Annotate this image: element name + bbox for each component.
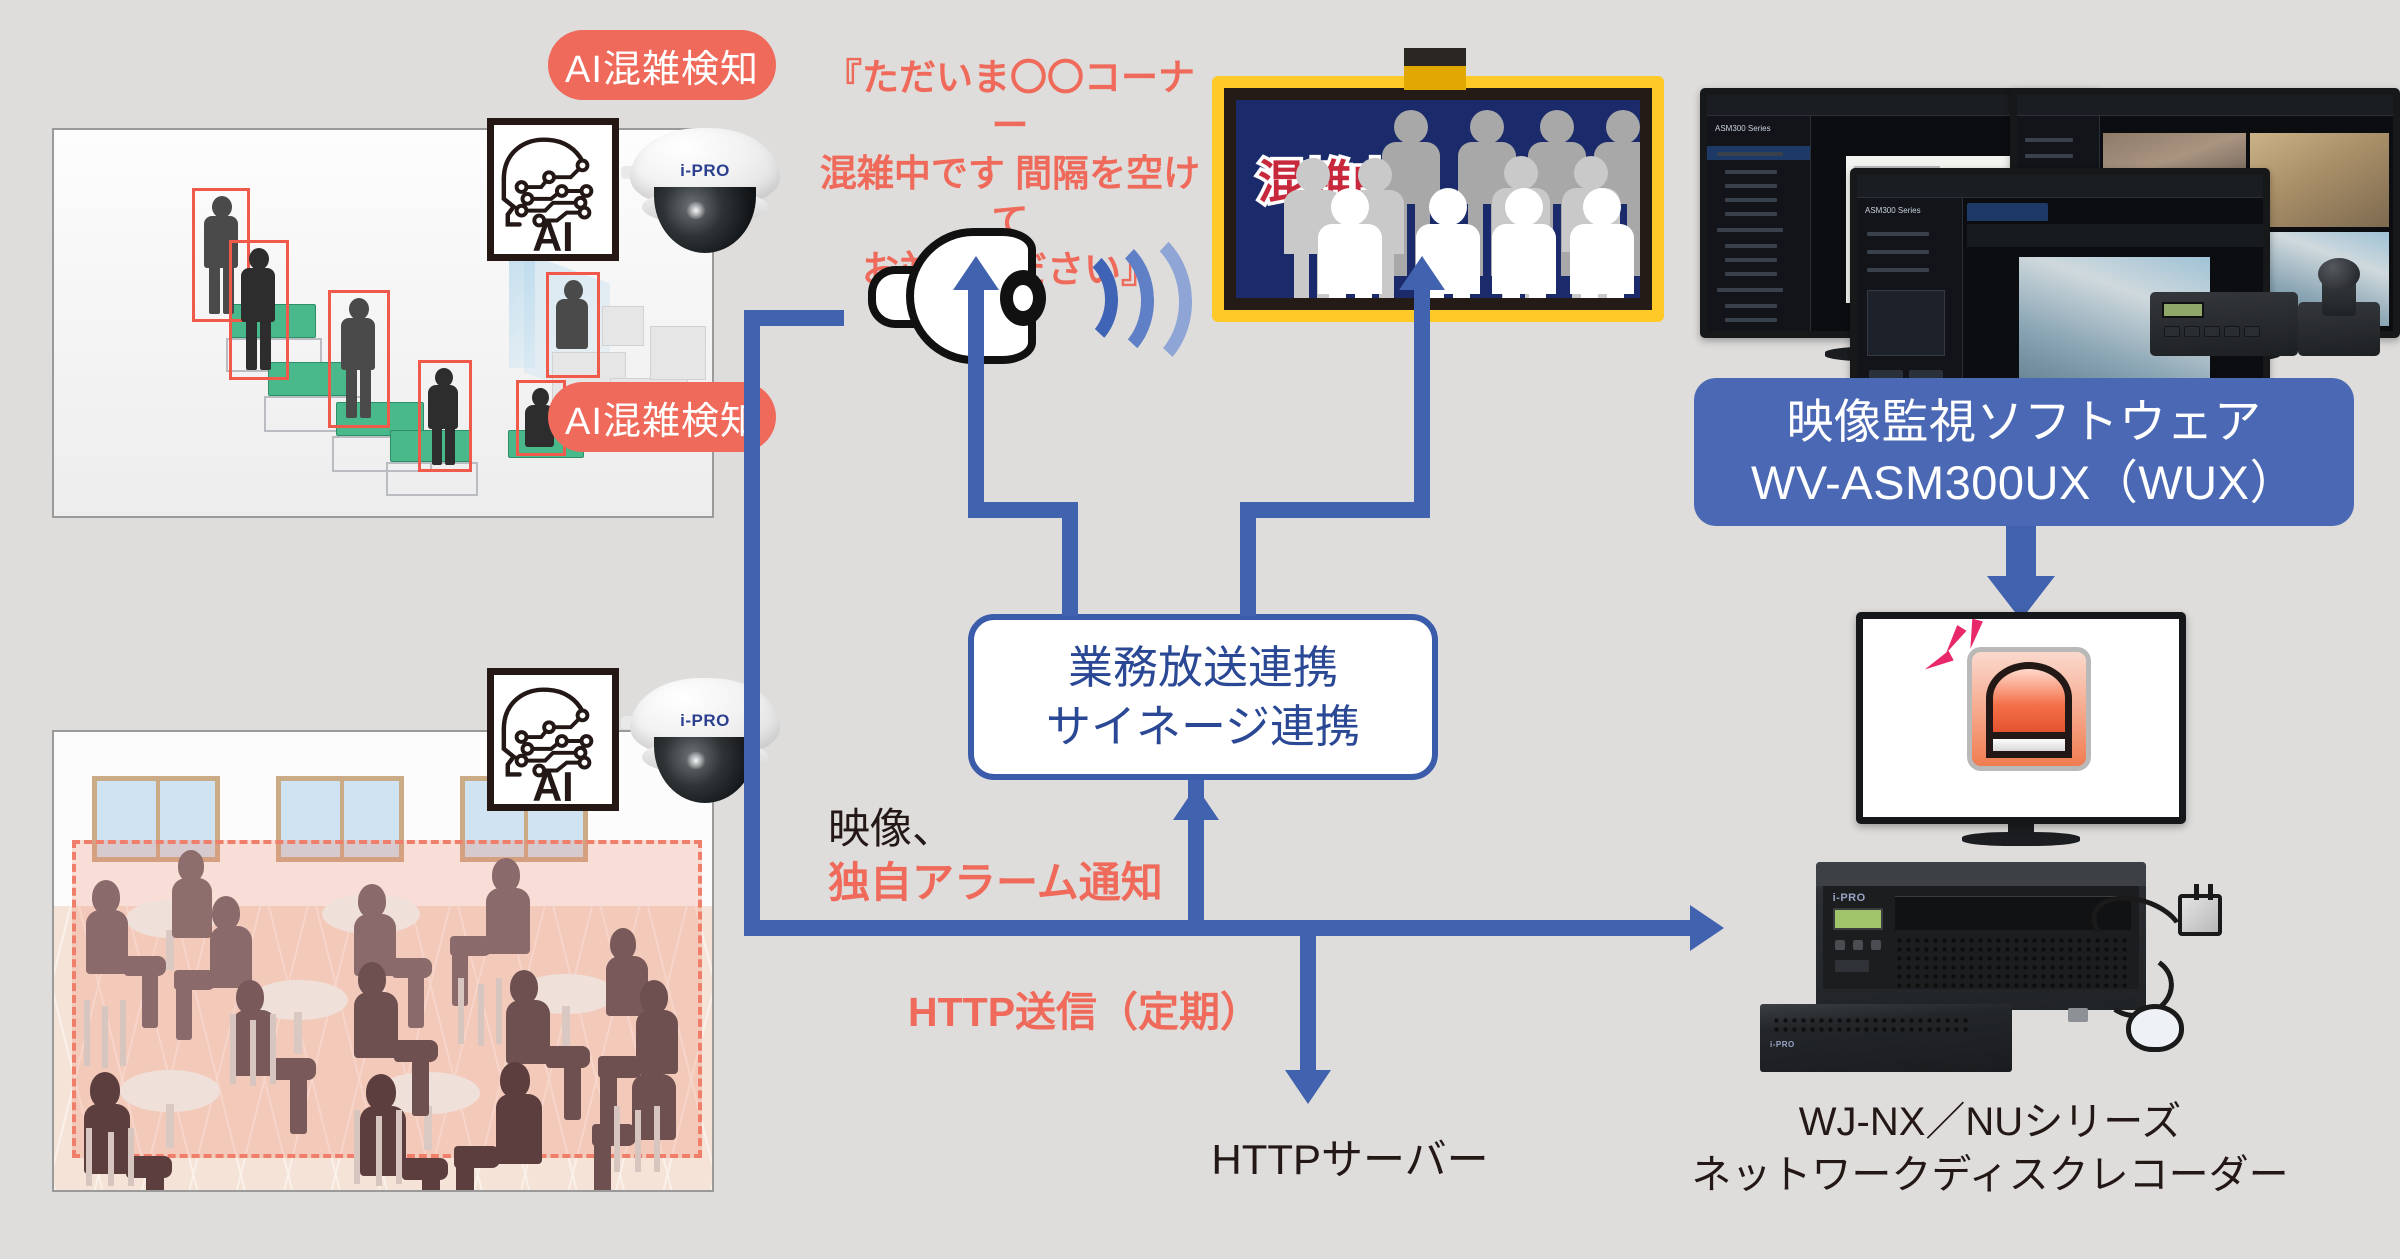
- connector-horiz-right: [1240, 502, 1430, 518]
- mouse[interactable]: [2126, 1004, 2184, 1052]
- flow-label-http-send: HTTP送信（定期）: [908, 978, 1288, 1038]
- joystick-controller[interactable]: [2150, 268, 2380, 368]
- arrow-to-http-server: [1285, 1070, 1331, 1104]
- signage-mount-top: [1404, 48, 1466, 68]
- recorder-caption-line2: ネットワークディスクレコーダー: [1680, 1149, 2300, 1202]
- announcement-line1: 『ただいま〇〇コーナー: [810, 54, 1210, 150]
- alarm-monitor: [1856, 612, 2186, 824]
- ai-crowd-badge-bottom-label: AI混雑検知: [565, 390, 759, 445]
- power-adapter: [2178, 894, 2222, 936]
- recorder-caption: WJ-NX／NUシリーズ ネットワークディスクレコーダー: [1680, 1096, 2300, 1202]
- software-box-line2: WV-ASM300UX（WUX）: [1751, 452, 2297, 513]
- ai-icon-text: AI: [532, 213, 573, 254]
- connector-camera-top: [744, 310, 844, 326]
- camera-brand-top: i-PRO: [680, 161, 730, 181]
- integration-box-line1: 業務放送連携: [1068, 638, 1338, 697]
- connector-horiz-left: [968, 502, 1078, 518]
- flow-label-alarm: 独自アラーム通知: [828, 856, 1248, 910]
- toolbar[interactable]: [1967, 224, 2263, 247]
- connector-camera-trunk: [744, 310, 760, 920]
- signage-mount-bottom: [1404, 66, 1466, 90]
- siren-alarm-icon: [1967, 647, 2091, 771]
- detection-box: [546, 272, 600, 378]
- camera-brand-bottom: i-PRO: [680, 711, 730, 731]
- calendar-widget[interactable]: [1867, 290, 1945, 356]
- connector-main-horizontal: [744, 920, 1694, 936]
- ai-crowd-badge-bottom: AI混雑検知: [548, 382, 776, 452]
- vms-app-name-left: ASM300 Series: [1715, 124, 1771, 133]
- megaphone-icon: [862, 222, 1162, 392]
- connector-vert-signage: [1414, 290, 1430, 508]
- software-box-line1: 映像監視ソフトウェア: [1787, 391, 2262, 452]
- dome-camera-top: i-PRO: [630, 128, 780, 256]
- arrow-to-megaphone: [953, 256, 999, 290]
- connector-software-to-alarm: [2006, 526, 2036, 578]
- integration-box-line2: サイネージ連携: [1046, 697, 1360, 756]
- flow-label-video: 映像、: [828, 802, 1248, 856]
- network-disk-recorders: i-PRO i-PRO: [1760, 862, 2320, 1102]
- diagram-canvas: AI混雑検知 AI: [0, 0, 2400, 1259]
- arrow-to-recorder: [1690, 905, 1724, 951]
- svg-text:AI: AI: [532, 763, 573, 804]
- connector-box-up-left: [1062, 518, 1078, 616]
- recorder-caption-line1: WJ-NX／NUシリーズ: [1680, 1096, 2300, 1149]
- http-server-label: HTTPサーバー: [1180, 1126, 1520, 1187]
- connector-bottom-camera: [744, 855, 760, 925]
- vms-app-name-center: ASM300 Series: [1865, 206, 1921, 215]
- integration-box: 業務放送連携 サイネージ連携: [968, 614, 1438, 780]
- recorder-brand: i-PRO: [1833, 892, 1866, 904]
- flow-label-video-alarm: 映像、 独自アラーム通知: [828, 802, 1248, 910]
- ai-crowd-badge-top: AI混雑検知: [548, 30, 776, 100]
- connector-http-server: [1300, 920, 1316, 1080]
- live-tab[interactable]: [1967, 203, 2048, 221]
- ai-brain-chip-icon: AI: [487, 118, 619, 261]
- ai-crowd-badge-top-label: AI混雑検知: [565, 38, 759, 93]
- software-box: 映像監視ソフトウェア WV-ASM300UX（WUX）: [1694, 378, 2354, 526]
- connector-vert-megaphone: [968, 290, 984, 508]
- detection-box: [418, 360, 472, 472]
- arrow-to-signage: [1399, 256, 1445, 290]
- detection-box: [328, 290, 390, 428]
- detection-box: [229, 240, 289, 380]
- connector-box-up-right: [1240, 518, 1256, 616]
- ai-brain-chip-icon-bottom: AI: [487, 668, 619, 811]
